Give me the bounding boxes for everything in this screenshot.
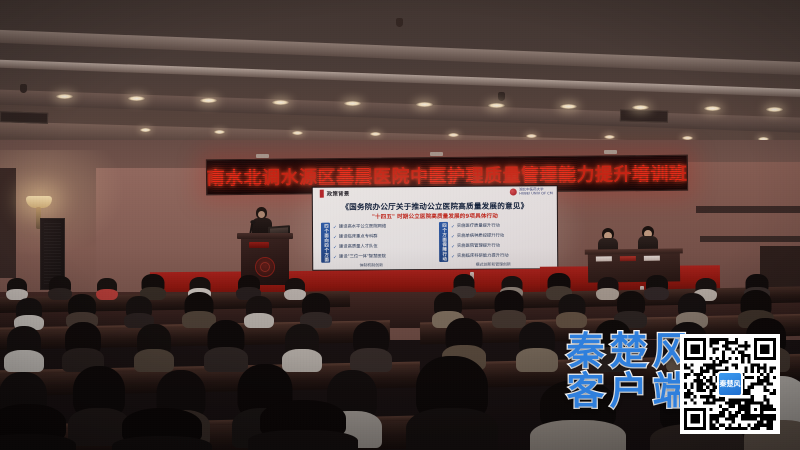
list-item-label: 实施临床科研能力提升行动 — [457, 255, 509, 260]
list-item: ✓ 实施单病种质控提升行动 — [451, 234, 549, 240]
ceiling-sensor-icon — [20, 84, 27, 93]
wall-light-pool — [0, 150, 150, 280]
ceiling-downlight — [526, 134, 537, 138]
attendee-foreground — [744, 376, 800, 450]
attendee — [350, 321, 392, 372]
attendee-body — [96, 289, 118, 300]
ceiling-downlight — [604, 135, 615, 139]
slide-columns: 四个面向四个方面 ✓ 建设高水平公立医院网络 ✓ 建设临床重点专科群 ✓ 建设高 — [321, 221, 549, 263]
attendee-body — [4, 350, 44, 372]
attendee-body — [650, 424, 744, 450]
check-icon: ✓ — [451, 245, 455, 250]
attendee-body — [248, 430, 358, 450]
attendee-body — [406, 408, 498, 450]
list-item-label: 建设临床重点专科群 — [339, 235, 378, 240]
check-icon: ✓ — [451, 224, 455, 229]
attendee-body — [644, 287, 669, 300]
slide-org-logo: 湖北中医药大学 HUBEI UNIV OF CM — [510, 188, 553, 196]
ceiling-vent — [0, 111, 48, 124]
attendee — [244, 296, 274, 328]
ceiling-downlight — [488, 103, 505, 108]
check-icon: ✓ — [451, 234, 455, 239]
ceiling-downlight — [292, 131, 303, 135]
attendee — [644, 275, 669, 300]
attendee-body — [244, 313, 274, 328]
ceiling-downlight — [140, 128, 151, 132]
check-icon: ✓ — [333, 225, 337, 230]
ceiling-downlight — [128, 96, 145, 101]
attendee — [300, 293, 332, 328]
attendee-foreground — [248, 400, 358, 450]
list-item: ✓ 实施临床科研能力提升行动 — [451, 254, 549, 260]
attendee — [6, 278, 28, 300]
wall-trim — [700, 236, 800, 242]
ceiling-sensor-icon — [396, 18, 403, 27]
ceiling-downlight — [56, 94, 73, 99]
ceiling-downlight — [560, 104, 577, 109]
podium-emblem-icon — [255, 257, 275, 277]
attendee — [666, 322, 710, 372]
attendee — [592, 320, 634, 372]
attendee-foreground — [530, 380, 626, 450]
list-item: ✓ 建设高水平公立医院网络 — [333, 225, 431, 231]
attendee-body — [112, 436, 212, 450]
projection-screen: 政策背景 湖北中医药大学 HUBEI UNIV OF CM 《国务院办公厅关于推… — [312, 185, 559, 271]
ceiling-downlight — [344, 101, 361, 106]
list-item: ✓ 实施医院管理提升行动 — [451, 244, 549, 250]
attendee-foreground — [0, 404, 76, 450]
wall-trim — [0, 168, 16, 278]
attendee-body — [592, 347, 634, 372]
slide-footer: 体制机制创新 模式创新和管理创新 — [313, 261, 557, 268]
list-item: ✓ 实施医疗质量提升行动 — [451, 224, 549, 230]
ceiling-downlight — [416, 102, 433, 107]
attendee — [96, 278, 118, 300]
attendee-body — [744, 420, 800, 450]
name-card — [596, 256, 612, 261]
attendee-body — [666, 348, 710, 372]
slide-footer-left: 体制机制创新 — [360, 262, 383, 268]
ceiling-downlight — [448, 133, 459, 137]
attendee — [4, 326, 44, 372]
org-logo-line2: HUBEI UNIV OF CM — [519, 192, 553, 196]
list-item-label: 实施单病种质控提升行动 — [457, 234, 504, 239]
org-logo-text: 湖北中医药大学 HUBEI UNIV OF CM — [519, 188, 553, 196]
banner-bracket — [256, 154, 269, 158]
attendee-body — [742, 346, 790, 372]
attendee-foreground — [650, 384, 744, 450]
ceiling-downlight — [214, 130, 225, 134]
org-logo-icon — [510, 189, 517, 196]
podium-top — [237, 233, 293, 239]
column-items: ✓ 实施医疗质量提升行动 ✓ 实施单病种质控提升行动 ✓ 实施医院管理提升行动 — [451, 221, 549, 262]
ceiling-vent — [620, 109, 668, 122]
podium-nameplate — [249, 242, 269, 248]
column-label: 四个方面保障行动 — [439, 222, 448, 262]
list-item: ✓ 建设"三位一体"智慧医院 — [333, 255, 431, 261]
attendee-body — [516, 348, 558, 372]
ceiling-downlight — [370, 132, 381, 136]
column-items: ✓ 建设高水平公立医院网络 ✓ 建设临床重点专科群 ✓ 建设高质量人才队伍 — [333, 222, 431, 263]
photo-scene: 南水北调水源区基层医院中医护理质量管理能力提升培训班 政策背景 湖北中医药大学 … — [0, 0, 800, 450]
name-card — [620, 256, 636, 261]
slide-column-left: 四个面向四个方面 ✓ 建设高水平公立医院网络 ✓ 建设临床重点专科群 ✓ 建设高 — [321, 222, 431, 263]
attendee — [742, 318, 790, 372]
list-item-label: 实施医疗质量提升行动 — [457, 224, 500, 229]
check-icon: ✓ — [451, 255, 455, 260]
banner-bracket — [430, 152, 443, 156]
name-card — [644, 256, 660, 261]
banner-bracket — [604, 150, 617, 154]
slide-footer-right: 模式创新和管理创新 — [476, 261, 511, 267]
attendee-foreground — [112, 408, 212, 450]
list-item-label: 建设高水平公立医院网络 — [339, 225, 386, 230]
ceiling-downlight — [272, 100, 289, 105]
slide-column-right: 四个方面保障行动 ✓ 实施医疗质量提升行动 ✓ 实施单病种质控提升行动 ✓ 实施 — [439, 221, 549, 262]
ceiling-downlight — [632, 105, 649, 110]
list-item-label: 实施医院管理提升行动 — [457, 244, 500, 249]
audience — [0, 280, 800, 450]
slide-subtitle: "十四五" 时期公立医院高质量发展的9项具体行动 — [313, 211, 557, 220]
check-icon: ✓ — [333, 235, 337, 240]
attendee-body — [350, 348, 392, 372]
ceiling — [0, 0, 800, 162]
slide-accent-bar — [320, 189, 324, 197]
head-table-top — [585, 248, 683, 254]
ceiling-downlight — [704, 106, 721, 111]
ceiling-downlight — [200, 98, 217, 103]
attendee-body — [556, 312, 587, 328]
list-item-label: 建设"三位一体"智慧医院 — [339, 255, 386, 260]
attendee-body — [530, 420, 626, 450]
attendee — [516, 322, 558, 372]
check-icon: ✓ — [333, 255, 337, 260]
attendee — [62, 322, 104, 372]
attendee — [556, 294, 587, 328]
ceiling-downlight — [766, 107, 783, 112]
column-label: 四个面向四个方面 — [321, 223, 330, 263]
check-icon: ✓ — [333, 245, 337, 250]
ceiling-sensor-icon — [498, 92, 505, 101]
presenter-face — [258, 211, 265, 218]
attendee — [134, 324, 174, 372]
attendee-body — [134, 349, 174, 372]
list-item: ✓ 建设临床重点专科群 — [333, 235, 431, 241]
attendee-body — [0, 434, 76, 450]
wall-trim — [696, 206, 800, 213]
slide-content: 政策背景 湖北中医药大学 HUBEI UNIV OF CM 《国务院办公厅关于推… — [313, 186, 557, 269]
attendee-foreground — [406, 356, 498, 450]
list-item: ✓ 建设高质量人才队伍 — [333, 245, 431, 251]
slide-section-tag: 政策背景 — [327, 189, 350, 197]
list-item-label: 建设高质量人才队伍 — [339, 245, 378, 250]
